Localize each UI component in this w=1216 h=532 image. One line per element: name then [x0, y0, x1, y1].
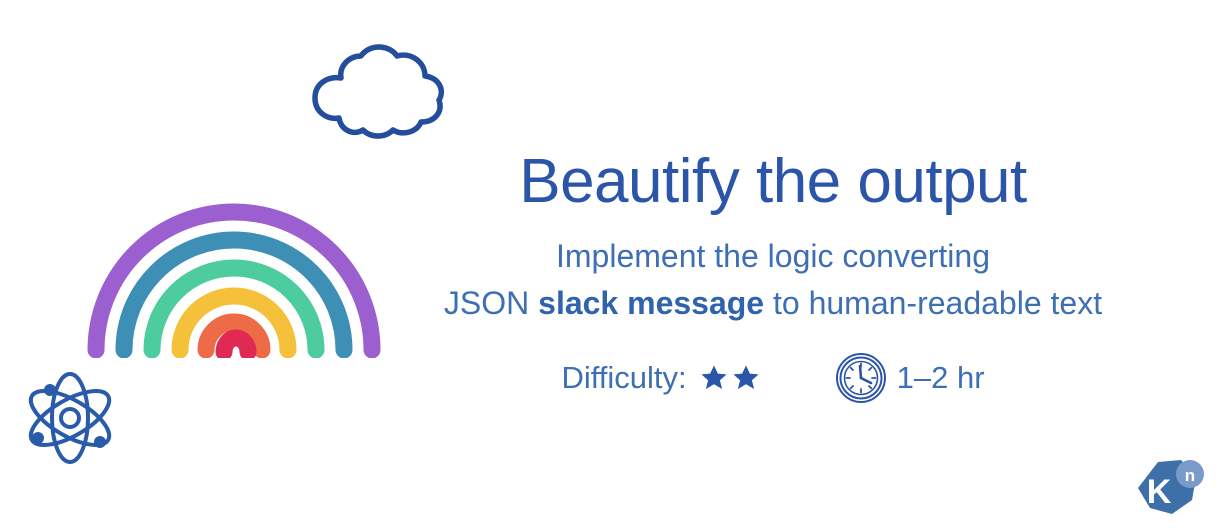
star-icon: [699, 363, 729, 393]
difficulty-group: Difficulty:: [561, 360, 760, 396]
logo-letter-k: K: [1147, 473, 1172, 511]
subtitle-line-2: JSON slack message to human-readable tex…: [388, 280, 1158, 326]
content-block: Beautify the output Implement the logic …: [388, 150, 1158, 404]
promo-card: Beautify the output Implement the logic …: [0, 0, 1216, 532]
subtitle-line-2-suffix: to human-readable text: [764, 285, 1102, 321]
subtitle-emphasis: slack message: [538, 285, 764, 321]
difficulty-rating: [699, 363, 761, 393]
page-title: Beautify the output: [388, 150, 1158, 213]
kn-logo[interactable]: K n: [1128, 458, 1204, 526]
subtitle-line-1: Implement the logic converting: [388, 233, 1158, 279]
duration-label: 1–2 hr: [897, 360, 985, 396]
subtitle: Implement the logic converting JSON slac…: [388, 233, 1158, 326]
star-icon: [731, 363, 761, 393]
duration-group: 1–2 hr: [835, 352, 985, 404]
clock-icon: [835, 352, 887, 404]
difficulty-label: Difficulty:: [561, 360, 686, 396]
meta-row: Difficulty:: [388, 352, 1158, 404]
cloud-doodle-icon: [303, 40, 449, 140]
rainbow-doodle-icon: [84, 188, 384, 358]
atom-doodle-icon: [20, 370, 120, 466]
logo-letter-n: n: [1185, 466, 1195, 485]
subtitle-line-2-prefix: JSON: [444, 285, 538, 321]
